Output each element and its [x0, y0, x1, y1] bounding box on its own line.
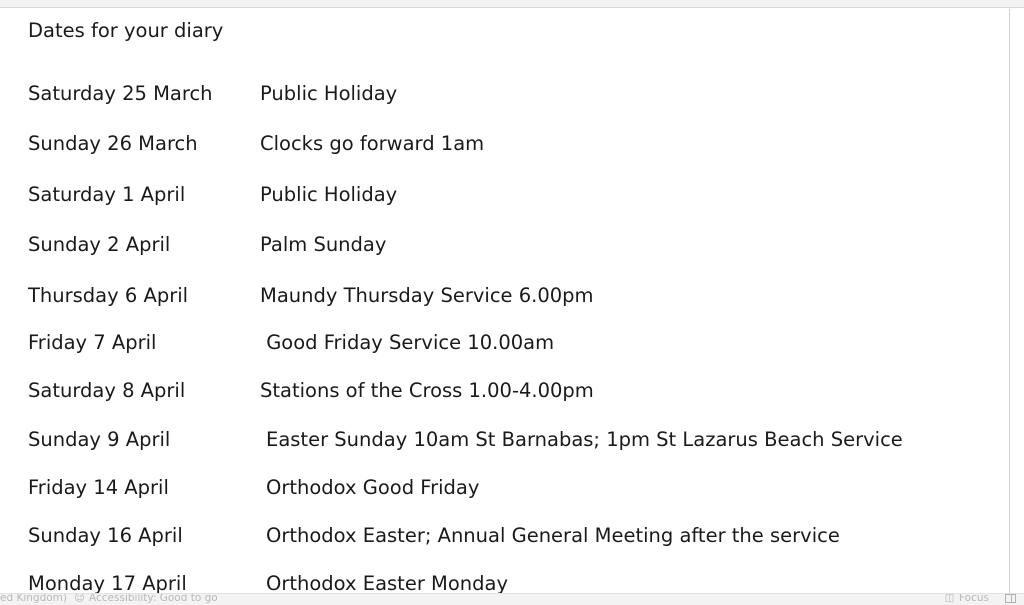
row-event: Public Holiday [260, 81, 397, 107]
row-event: Clocks go forward 1am [260, 131, 484, 157]
row-event: Stations of the Cross 1.00-4.00pm [260, 378, 594, 404]
row-date: Sunday 26 March [28, 131, 198, 157]
table-row: Sunday 26 MarchClocks go forward 1am [0, 131, 1010, 157]
row-event: Orthodox Easter Monday [266, 571, 508, 593]
row-event: Good Friday Service 10.00am [260, 330, 554, 356]
focus-mode-button[interactable]: ◫ Focus [944, 593, 989, 605]
page-layout-icon [1005, 594, 1016, 603]
page-title: Dates for your diary [28, 19, 223, 43]
row-event: Maundy Thursday Service 6.00pm [260, 283, 594, 309]
accessibility-person-icon: ☺ [74, 593, 85, 604]
status-bar-right: ◫ Focus [944, 593, 1016, 605]
accessibility-indicator[interactable]: ☺ Accessibility: Good to go [74, 593, 218, 605]
row-event: Orthodox Good Friday [266, 475, 479, 501]
table-row: Saturday 8 AprilStations of the Cross 1.… [0, 378, 1010, 404]
word-document-window: Dates for your diary Saturday 25 MarchPu… [0, 0, 1024, 605]
row-date: Sunday 9 April [28, 427, 170, 453]
row-date: Thursday 6 April [28, 283, 188, 309]
language-label: ed Kingdom) [0, 593, 67, 605]
row-date: Monday 17 April [28, 571, 187, 593]
status-bar: ed Kingdom) ☺ Accessibility: Good to go … [0, 593, 1024, 605]
row-event: Easter Sunday 10am St Barnabas; 1pm St L… [266, 427, 903, 453]
table-row: Thursday 6 AprilMaundy Thursday Service … [0, 283, 1010, 309]
toolbar-bottom-edge [0, 0, 1024, 8]
table-row: Sunday 2 AprilPalm Sunday [0, 232, 1010, 258]
accessibility-label: Accessibility: Good to go [89, 593, 218, 605]
row-date: Sunday 16 April [28, 523, 183, 549]
row-event: Public Holiday [260, 182, 397, 208]
table-row: Sunday 16 AprilOrthodox Easter; Annual G… [0, 523, 1010, 549]
row-date: Saturday 1 April [28, 182, 185, 208]
row-date: Friday 14 April [28, 475, 169, 501]
row-date: Saturday 25 March [28, 81, 213, 107]
document-page[interactable]: Dates for your diary Saturday 25 MarchPu… [0, 9, 1010, 593]
language-indicator[interactable]: ed Kingdom) [0, 593, 67, 605]
table-row: Saturday 1 AprilPublic Holiday [0, 182, 1010, 208]
row-date: Saturday 8 April [28, 378, 185, 404]
table-row: Friday 7 April Good Friday Service 10.00… [0, 330, 1010, 356]
row-event: Palm Sunday [260, 232, 386, 258]
table-row: Sunday 9 AprilEaster Sunday 10am St Barn… [0, 427, 1010, 453]
table-row: Friday 14 AprilOrthodox Good Friday [0, 475, 1010, 501]
focus-label: Focus [959, 593, 989, 605]
row-date: Friday 7 April [28, 330, 156, 356]
row-date: Sunday 2 April [28, 232, 170, 258]
page-layout-button[interactable] [1005, 594, 1016, 603]
table-row: Monday 17 AprilOrthodox Easter Monday [0, 571, 1010, 593]
status-bar-left: ed Kingdom) ☺ Accessibility: Good to go [0, 593, 218, 605]
table-row: Saturday 25 MarchPublic Holiday [0, 81, 1010, 107]
focus-mode-icon: ◫ [944, 593, 955, 604]
row-event: Orthodox Easter; Annual General Meeting … [266, 523, 840, 549]
